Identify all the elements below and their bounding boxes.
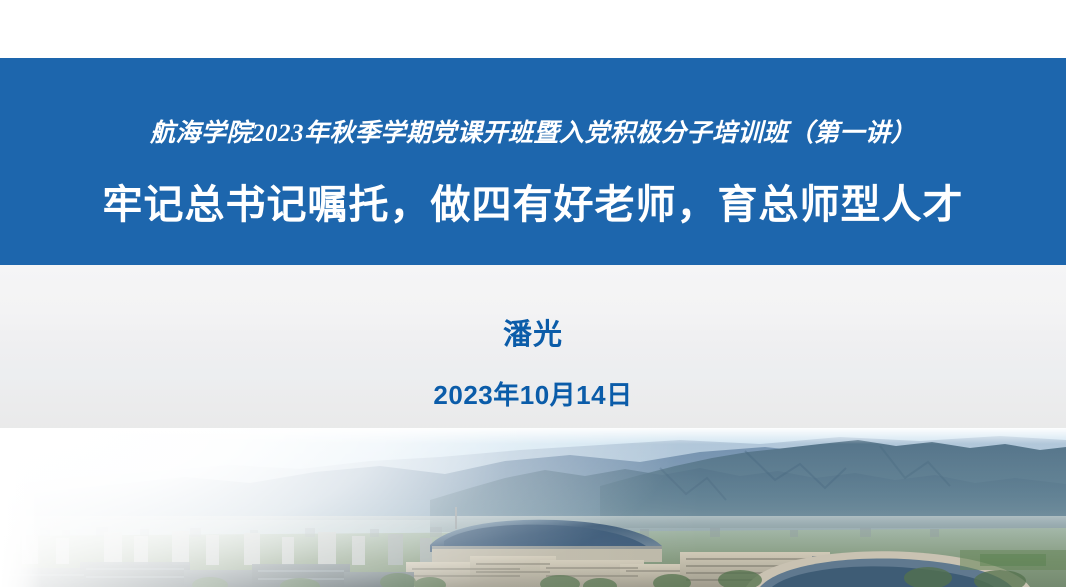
title-banner: 航海学院2023年秋季学期党课开班暨入党积极分子培训班（第一讲） 牢记总书记嘱托… [0, 58, 1066, 265]
campus-panorama-illustration [0, 428, 1066, 587]
presentation-slide: 航海学院2023年秋季学期党课开班暨入党积极分子培训班（第一讲） 牢记总书记嘱托… [0, 0, 1066, 587]
campus-panorama-photo [0, 428, 1066, 587]
banner-main-title: 牢记总书记嘱托，做四有好老师，育总师型人才 [0, 172, 1066, 230]
top-white-strip [0, 0, 1066, 58]
speaker-name: 潘光 [0, 311, 1066, 353]
presentation-date: 2023年10月14日 [0, 375, 1066, 412]
banner-subtitle: 航海学院2023年秋季学期党课开班暨入党积极分子培训班（第一讲） [0, 113, 1066, 149]
